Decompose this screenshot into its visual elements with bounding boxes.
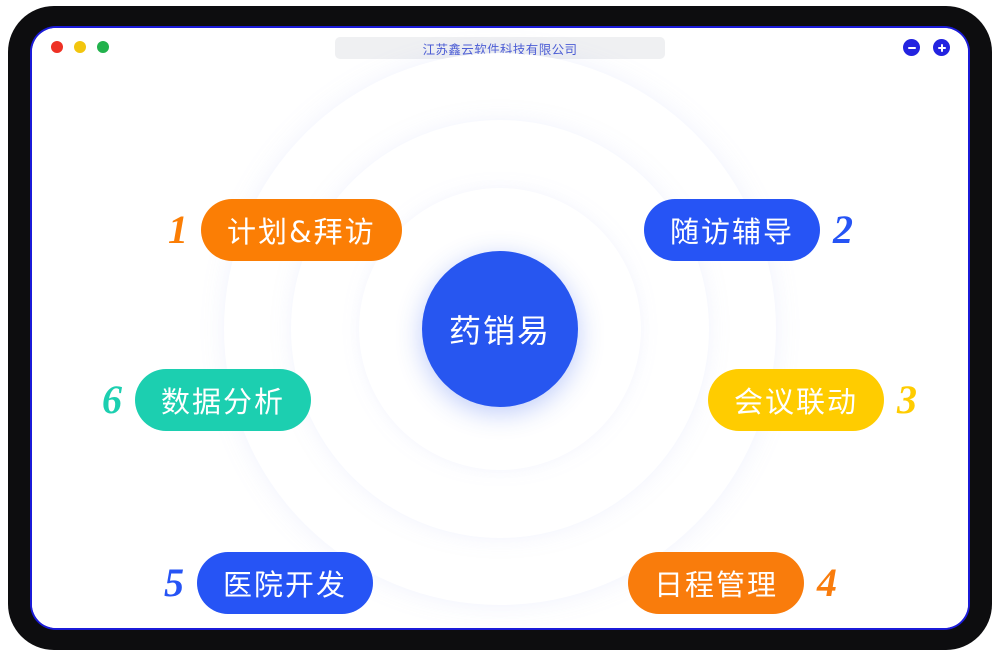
- diagram-canvas: 药销易 1 计划&拜访 随访辅导 2 6 数据分析 会议联动 3: [32, 67, 968, 628]
- node-4[interactable]: 日程管理 4: [628, 552, 837, 614]
- node-5[interactable]: 5 医院开发: [164, 552, 373, 614]
- node-4-pill[interactable]: 日程管理: [628, 552, 804, 614]
- window-controls: [903, 39, 950, 56]
- node-4-number: 4: [817, 563, 837, 603]
- node-5-pill[interactable]: 医院开发: [197, 552, 373, 614]
- node-1[interactable]: 1 计划&拜访: [168, 199, 402, 261]
- node-6-number: 6: [102, 380, 122, 420]
- center-node-label: 药销易: [449, 306, 551, 352]
- title-bar: 江苏鑫云软件科技有限公司: [32, 28, 968, 67]
- node-2[interactable]: 随访辅导 2: [644, 199, 853, 261]
- zoom-in-button[interactable]: [933, 39, 950, 56]
- node-2-pill[interactable]: 随访辅导: [644, 199, 820, 261]
- node-3-number: 3: [897, 380, 917, 420]
- screen: 江苏鑫云软件科技有限公司 药销易: [32, 28, 968, 628]
- title-field[interactable]: 江苏鑫云软件科技有限公司: [335, 37, 665, 59]
- close-red-icon[interactable]: [51, 41, 63, 53]
- center-node[interactable]: 药销易: [422, 251, 578, 407]
- minimize-yellow-icon[interactable]: [74, 41, 86, 53]
- maximize-green-icon[interactable]: [97, 41, 109, 53]
- minus-icon: [908, 47, 916, 49]
- node-6[interactable]: 6 数据分析: [102, 369, 311, 431]
- node-3[interactable]: 会议联动 3: [708, 369, 917, 431]
- device-frame: 江苏鑫云软件科技有限公司 药销易: [8, 6, 992, 650]
- window-title: 江苏鑫云软件科技有限公司: [423, 39, 578, 58]
- plus-icon-vertical: [941, 44, 943, 52]
- node-6-pill[interactable]: 数据分析: [135, 369, 311, 431]
- zoom-out-button[interactable]: [903, 39, 920, 56]
- node-1-number: 1: [168, 210, 188, 250]
- node-2-number: 2: [833, 210, 853, 250]
- node-3-pill[interactable]: 会议联动: [708, 369, 884, 431]
- node-1-pill[interactable]: 计划&拜访: [201, 199, 402, 261]
- traffic-lights: [51, 41, 109, 53]
- node-5-number: 5: [164, 563, 184, 603]
